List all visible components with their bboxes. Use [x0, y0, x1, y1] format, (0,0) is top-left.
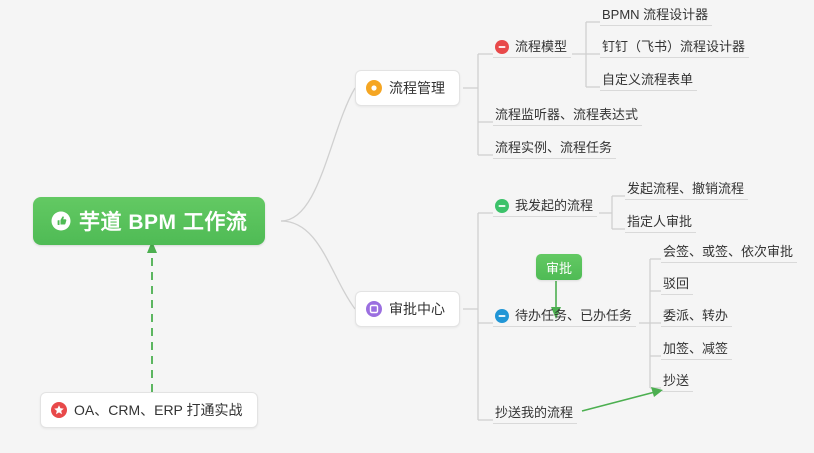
minus-circle-blue-icon — [495, 309, 509, 324]
minus-circle-icon — [495, 40, 509, 55]
branch-node-process-management[interactable]: 流程管理 — [355, 70, 460, 106]
node-countersign[interactable]: 会签、或签、依次审批 — [661, 239, 797, 263]
node-label: 流程模型 — [515, 36, 567, 55]
square-circle-icon — [366, 301, 382, 317]
branch-node-approval-center[interactable]: 审批中心 — [355, 291, 460, 327]
node-label: 钉钉（飞书）流程设计器 — [602, 36, 745, 55]
node-todo-done-tasks[interactable]: 待办任务、已办任务 — [493, 303, 636, 327]
node-process-listener[interactable]: 流程监听器、流程表达式 — [493, 102, 642, 126]
node-label: 流程监听器、流程表达式 — [495, 104, 638, 123]
node-process-instance[interactable]: 流程实例、流程任务 — [493, 135, 616, 159]
node-label: 会签、或签、依次审批 — [663, 241, 793, 260]
node-label: 加签、减签 — [663, 338, 728, 357]
node-label: 抄送我的流程 — [495, 402, 573, 421]
node-label: 委派、转办 — [663, 305, 728, 324]
node-start-cancel-process[interactable]: 发起流程、撤销流程 — [625, 176, 748, 200]
root-label: 芋道 BPM 工作流 — [79, 206, 247, 236]
node-delegate-transfer[interactable]: 委派、转办 — [661, 303, 732, 327]
node-process-model[interactable]: 流程模型 — [493, 34, 571, 58]
branch-label: 流程管理 — [389, 78, 445, 98]
node-label: 驳回 — [663, 273, 689, 292]
node-cc-to-me[interactable]: 抄送我的流程 — [493, 400, 577, 424]
mindmap-canvas: 芋道 BPM 工作流 流程管理 流程模型 BPMN 流程设计器 钉钉（飞书）流程… — [0, 0, 814, 453]
node-add-remove-sign[interactable]: 加签、减签 — [661, 336, 732, 360]
node-custom-form[interactable]: 自定义流程表单 — [600, 67, 697, 91]
node-my-started-process[interactable]: 我发起的流程 — [493, 193, 597, 217]
approval-badge-label: 审批 — [546, 258, 572, 277]
node-label: 指定人审批 — [627, 211, 692, 230]
node-label: 自定义流程表单 — [602, 69, 693, 88]
node-label: 发起流程、撤销流程 — [627, 178, 744, 197]
root-node[interactable]: 芋道 BPM 工作流 — [33, 197, 265, 245]
bottom-note-label: OA、CRM、ERP 打通实战 — [74, 400, 243, 420]
node-label: 我发起的流程 — [515, 195, 593, 214]
thumbs-up-icon — [51, 211, 71, 231]
pin-icon — [366, 80, 382, 96]
minus-circle-green-icon — [495, 199, 509, 214]
star-icon — [51, 402, 67, 418]
node-label: BPMN 流程设计器 — [602, 4, 708, 23]
bottom-note[interactable]: OA、CRM、ERP 打通实战 — [40, 392, 258, 428]
node-label: 待办任务、已办任务 — [515, 305, 632, 324]
branch-label: 审批中心 — [389, 299, 445, 319]
approval-badge: 审批 — [536, 254, 582, 280]
node-dingtalk-designer[interactable]: 钉钉（飞书）流程设计器 — [600, 34, 749, 58]
node-label: 流程实例、流程任务 — [495, 137, 612, 156]
node-reject[interactable]: 驳回 — [661, 271, 693, 295]
node-assigned-approval[interactable]: 指定人审批 — [625, 209, 696, 233]
node-label: 抄送 — [663, 370, 689, 389]
node-cc[interactable]: 抄送 — [661, 368, 693, 392]
node-bpmn-designer[interactable]: BPMN 流程设计器 — [600, 2, 712, 26]
